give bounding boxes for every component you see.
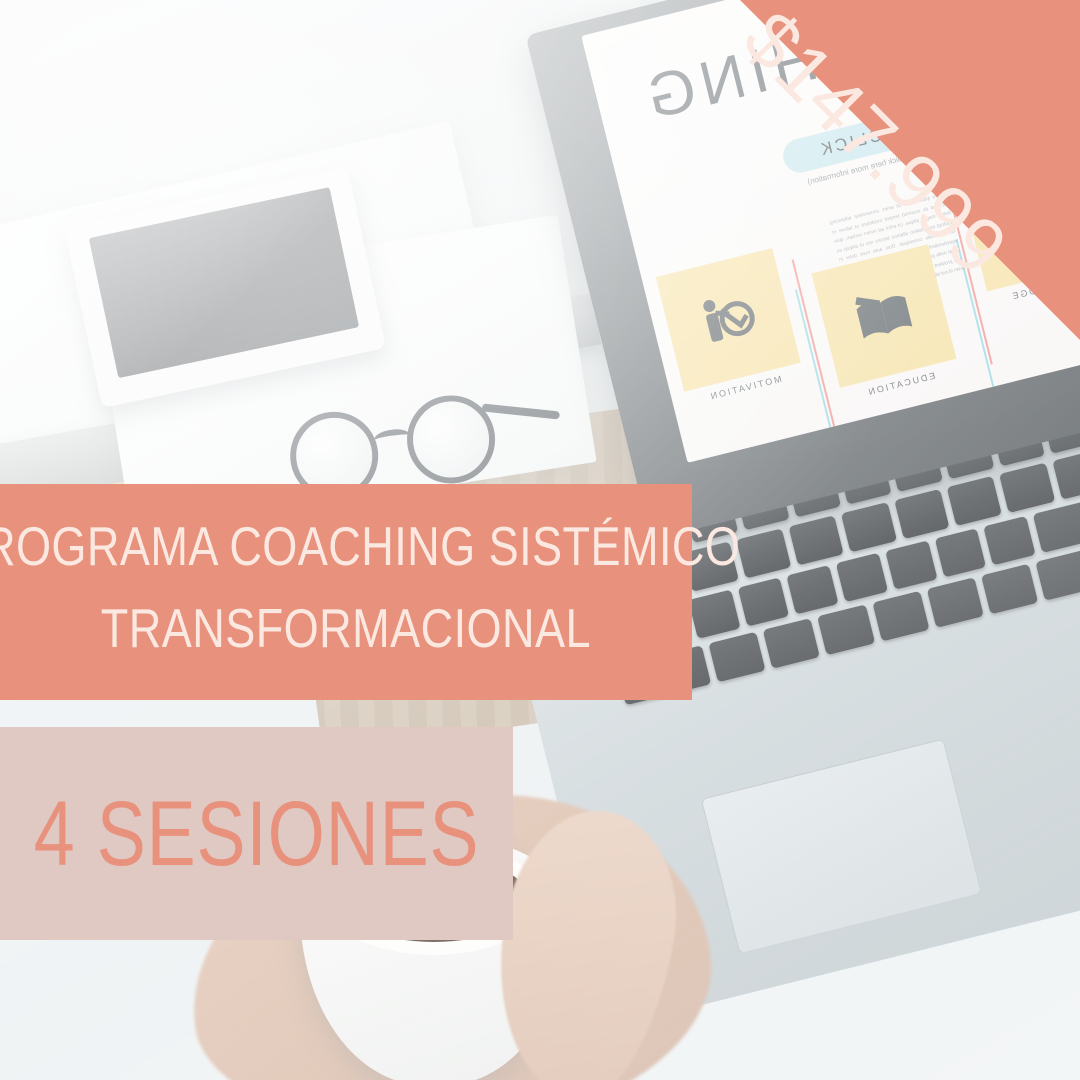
title-line-2: TRANSFORMACIONAL xyxy=(101,598,591,660)
key xyxy=(894,489,950,539)
key xyxy=(1052,450,1080,500)
key xyxy=(999,463,1055,513)
person-target-icon xyxy=(691,282,766,357)
title-banner: PROGRAMA COACHING SISTÉMICO TRANSFORMACI… xyxy=(0,484,692,700)
key xyxy=(836,553,888,602)
glasses-bridge xyxy=(373,427,411,448)
key xyxy=(709,632,766,683)
key xyxy=(817,604,874,655)
sessions-band: 4 SESIONES xyxy=(0,727,513,940)
key xyxy=(885,540,937,589)
promo-graphic: MENTOR COACHING CLICK (click here more i… xyxy=(0,0,1080,1080)
motivation-tile xyxy=(656,248,801,392)
tablet-screen xyxy=(89,187,359,378)
key xyxy=(841,502,897,552)
key xyxy=(763,618,820,669)
key xyxy=(787,565,839,614)
open-book-icon xyxy=(846,278,921,353)
key xyxy=(984,516,1036,565)
key xyxy=(788,515,844,565)
key xyxy=(736,528,792,578)
key xyxy=(934,528,986,577)
key xyxy=(872,591,929,642)
key xyxy=(981,564,1038,615)
feature-card-motivation: MOTIVATION xyxy=(656,248,805,407)
key xyxy=(926,577,983,628)
key xyxy=(737,577,789,626)
title-line-1: PROGRAMA COACHING SISTÉMICO xyxy=(0,516,740,578)
laptop-trackpad xyxy=(701,739,982,955)
key xyxy=(947,476,1003,526)
sessions-label: 4 SESIONES xyxy=(34,788,480,880)
key xyxy=(688,590,740,639)
